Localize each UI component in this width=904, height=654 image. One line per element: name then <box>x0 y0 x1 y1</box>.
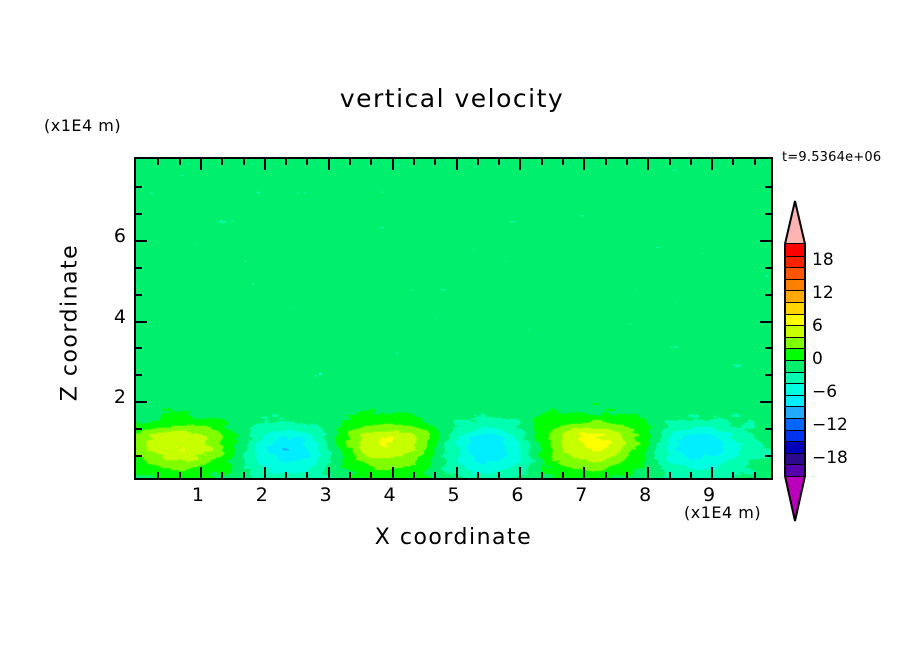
y-minor-tick <box>136 186 142 188</box>
x-major-tick <box>456 467 458 478</box>
colorbar-tick-label: 6 <box>812 316 823 336</box>
x-minor-tick-top <box>477 159 479 165</box>
colorbar-band <box>786 314 804 326</box>
contour-plot-area <box>134 157 773 480</box>
y-minor-tick-right <box>765 186 771 188</box>
x-major-tick <box>264 467 266 478</box>
y-minor-tick-right <box>765 267 771 269</box>
y-minor-tick-right <box>765 455 771 457</box>
x-tick-label: 7 <box>561 484 601 506</box>
colorbar-bands <box>784 244 806 476</box>
x-major-tick <box>328 467 330 478</box>
x-minor-tick <box>477 472 479 478</box>
x-major-tick <box>200 467 202 478</box>
colorbar-tick-label: −12 <box>812 415 848 435</box>
x-minor-tick <box>243 472 245 478</box>
contour-field-canvas <box>136 159 771 478</box>
x-minor-tick-top <box>732 159 734 165</box>
y-minor-tick-right <box>765 213 771 215</box>
x-minor-tick <box>562 472 564 478</box>
colorbar-band <box>786 256 804 268</box>
y-minor-tick-right <box>765 294 771 296</box>
colorbar-band <box>786 372 804 384</box>
x-minor-tick-top <box>434 159 436 165</box>
x-tick-label: 3 <box>306 484 346 506</box>
colorbar-band <box>786 244 804 256</box>
y-axis-title: Z coordinate <box>58 193 83 453</box>
colorbar-tick-label: −6 <box>812 382 837 402</box>
x-minor-tick <box>179 472 181 478</box>
y-axis-unit-label: (x1E4 m) <box>44 116 121 135</box>
colorbar <box>784 200 806 520</box>
x-major-tick <box>519 467 521 478</box>
y-minor-tick <box>136 428 142 430</box>
x-minor-tick <box>669 472 671 478</box>
x-minor-tick-top <box>605 159 607 165</box>
y-minor-tick <box>136 294 142 296</box>
colorbar-band <box>786 267 804 279</box>
x-minor-tick <box>605 472 607 478</box>
colorbar-band <box>786 325 804 337</box>
colorbar-over-arrow-icon <box>784 200 806 244</box>
y-minor-tick-right <box>765 347 771 349</box>
x-minor-tick <box>413 472 415 478</box>
x-minor-tick <box>434 472 436 478</box>
y-major-tick-right <box>760 401 771 403</box>
x-minor-tick <box>285 472 287 478</box>
x-minor-tick-top <box>541 159 543 165</box>
colorbar-band <box>786 430 804 442</box>
x-minor-tick-top <box>243 159 245 165</box>
x-tick-label: 5 <box>434 484 474 506</box>
x-minor-tick <box>690 472 692 478</box>
x-minor-tick-top <box>498 159 500 165</box>
colorbar-band <box>786 406 804 418</box>
x-minor-tick-top <box>562 159 564 165</box>
x-minor-tick <box>157 472 159 478</box>
x-tick-label: 9 <box>689 484 729 506</box>
y-minor-tick <box>136 374 142 376</box>
x-tick-label: 2 <box>242 484 282 506</box>
x-minor-tick <box>370 472 372 478</box>
y-minor-tick <box>136 267 142 269</box>
x-minor-tick-top <box>306 159 308 165</box>
x-tick-label: 4 <box>370 484 410 506</box>
y-major-tick <box>136 321 147 323</box>
colorbar-band <box>786 279 804 291</box>
x-minor-tick-top <box>626 159 628 165</box>
x-major-tick <box>583 467 585 478</box>
y-tick-label: 6 <box>86 225 126 247</box>
colorbar-band <box>786 453 804 465</box>
x-minor-tick-top <box>669 159 671 165</box>
x-axis-title: X coordinate <box>134 525 773 550</box>
x-major-tick-top <box>392 159 394 170</box>
y-minor-tick <box>136 347 142 349</box>
x-minor-tick <box>754 472 756 478</box>
x-minor-tick-top <box>370 159 372 165</box>
x-minor-tick <box>732 472 734 478</box>
y-tick-label: 2 <box>86 386 126 408</box>
x-major-tick-top <box>647 159 649 170</box>
colorbar-under-arrow-icon <box>784 476 806 522</box>
colorbar-band <box>786 418 804 430</box>
x-major-tick-top <box>583 159 585 170</box>
y-minor-tick <box>136 213 142 215</box>
x-tick-label: 8 <box>625 484 665 506</box>
x-minor-tick-top <box>221 159 223 165</box>
x-minor-tick-top <box>690 159 692 165</box>
colorbar-band <box>786 337 804 349</box>
x-minor-tick <box>498 472 500 478</box>
x-minor-tick-top <box>754 159 756 165</box>
x-major-tick <box>392 467 394 478</box>
colorbar-tick-label: 0 <box>812 349 823 369</box>
y-major-tick-right <box>760 321 771 323</box>
y-major-tick <box>136 240 147 242</box>
x-major-tick-top <box>456 159 458 170</box>
page-title: vertical velocity <box>0 84 904 113</box>
y-minor-tick <box>136 455 142 457</box>
colorbar-band <box>786 360 804 372</box>
colorbar-band <box>786 441 804 453</box>
colorbar-band <box>786 348 804 360</box>
x-major-tick-top <box>519 159 521 170</box>
x-minor-tick <box>306 472 308 478</box>
colorbar-tick-label: −18 <box>812 448 848 468</box>
x-major-tick <box>647 467 649 478</box>
timestamp-label: t=9.5364e+06 <box>782 150 881 165</box>
x-minor-tick <box>221 472 223 478</box>
x-major-tick-top <box>264 159 266 170</box>
x-minor-tick <box>349 472 351 478</box>
x-major-tick-top <box>328 159 330 170</box>
colorbar-band <box>786 464 804 476</box>
y-tick-label: 4 <box>86 306 126 328</box>
colorbar-band <box>786 302 804 314</box>
x-minor-tick-top <box>157 159 159 165</box>
colorbar-band <box>786 395 804 407</box>
x-minor-tick <box>626 472 628 478</box>
x-minor-tick-top <box>285 159 287 165</box>
x-minor-tick-top <box>179 159 181 165</box>
colorbar-tick-label: 18 <box>812 250 834 270</box>
x-minor-tick <box>541 472 543 478</box>
x-tick-label: 6 <box>497 484 537 506</box>
colorbar-tick-label: 12 <box>812 283 834 303</box>
x-major-tick-top <box>200 159 202 170</box>
colorbar-band <box>786 290 804 302</box>
y-major-tick <box>136 401 147 403</box>
y-minor-tick-right <box>765 428 771 430</box>
x-major-tick <box>711 467 713 478</box>
x-tick-label: 1 <box>178 484 218 506</box>
x-major-tick-top <box>711 159 713 170</box>
y-major-tick-right <box>760 240 771 242</box>
y-minor-tick-right <box>765 374 771 376</box>
colorbar-band <box>786 383 804 395</box>
x-minor-tick-top <box>349 159 351 165</box>
x-minor-tick-top <box>413 159 415 165</box>
